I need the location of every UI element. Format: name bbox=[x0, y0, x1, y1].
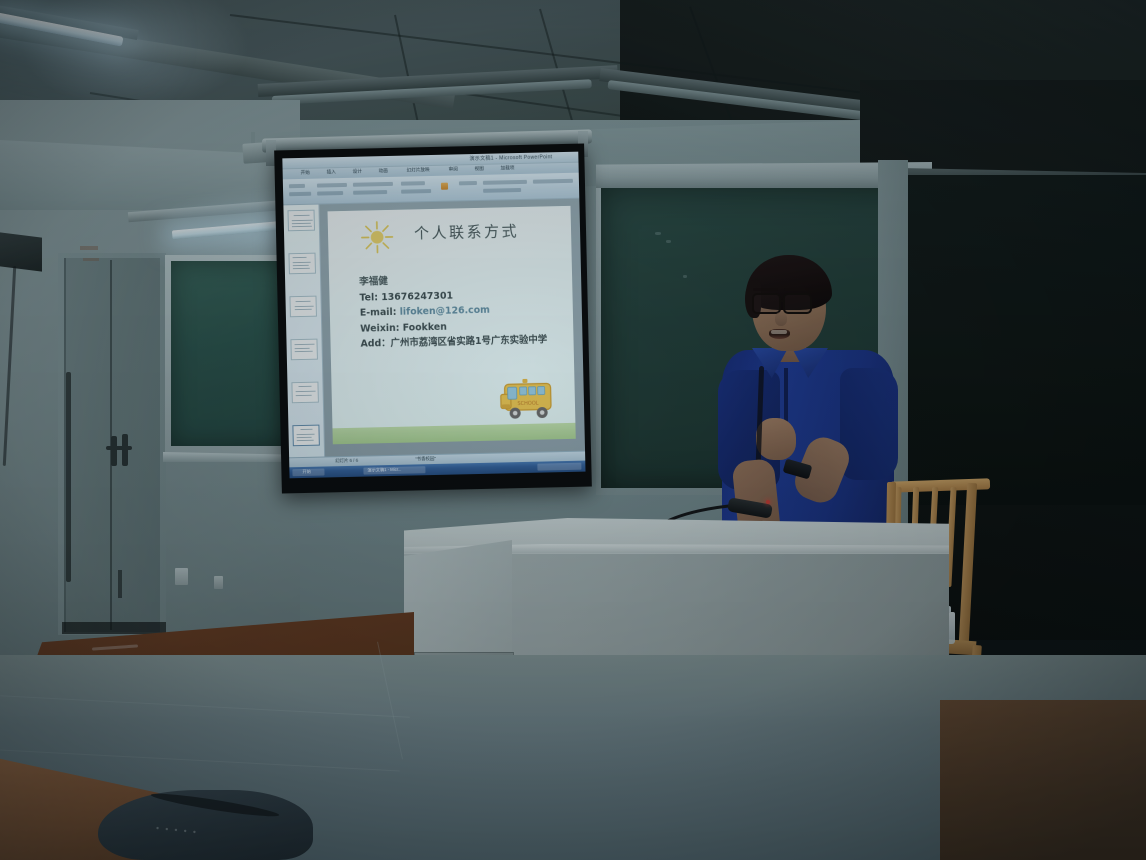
slide-thumbnail[interactable] bbox=[288, 210, 315, 232]
microphone-led-icon bbox=[766, 500, 770, 504]
ribbon-control[interactable] bbox=[317, 183, 347, 188]
ribbon-control[interactable] bbox=[401, 181, 425, 186]
glasses-lens-left bbox=[752, 293, 781, 314]
slide-thumbnail[interactable] bbox=[290, 339, 317, 361]
presenter-teeth bbox=[771, 330, 787, 334]
wall-outlet-1 bbox=[175, 568, 188, 585]
ribbon-control[interactable] bbox=[401, 189, 431, 194]
ribbon-highlight-button[interactable] bbox=[441, 183, 448, 190]
ribbon-control[interactable] bbox=[317, 191, 343, 196]
weixin-value: Fookken bbox=[403, 321, 447, 333]
presenter-right-sleeve bbox=[840, 368, 898, 480]
ribbon-tab-view[interactable]: 视图 bbox=[475, 166, 484, 172]
ribbon-control[interactable] bbox=[289, 184, 305, 188]
wall-outlet-2 bbox=[214, 576, 223, 589]
glasses-bridge bbox=[781, 300, 785, 302]
slide-grass-strip bbox=[332, 423, 575, 445]
statusbar-theme-name: "书香校园" bbox=[415, 456, 436, 462]
start-button-label: 开始 bbox=[302, 469, 311, 475]
door-handle-left[interactable] bbox=[111, 436, 117, 466]
ribbon-control[interactable] bbox=[353, 182, 393, 187]
door-lock-bar[interactable] bbox=[118, 570, 122, 598]
weixin-label: Weixin: bbox=[360, 322, 403, 334]
address-value: 广州市荔湾区省实路1号广东实验中学 bbox=[390, 334, 547, 349]
powerpoint-title-text: 演示文稿1 - Microsoft PowerPoint bbox=[469, 153, 552, 162]
statusbar-slide-counter: 幻灯片 6 / 6 bbox=[335, 458, 358, 465]
ribbon-control[interactable] bbox=[459, 181, 477, 185]
taskbar-task-label: 演示文稿1 - Micr... bbox=[367, 467, 401, 474]
projection-screen-surface: 演示文稿1 - Microsoft PowerPoint 开始 插入 设计 动画… bbox=[274, 144, 592, 494]
tray-icons[interactable] bbox=[537, 463, 581, 471]
slide-line-address: Add：广州市荔湾区省实路1号广东实验中学 bbox=[360, 332, 570, 352]
wall-marking bbox=[83, 258, 99, 261]
slide-editing-stage: 个人联系方式 李福健 Tel: 13676247301 E-mail: lifo… bbox=[319, 199, 585, 457]
address-label: Add： bbox=[360, 338, 390, 350]
presenter-brow-left bbox=[753, 288, 778, 291]
slide-thumbnail-current[interactable] bbox=[292, 425, 319, 447]
wall-marking bbox=[80, 246, 98, 250]
ribbon-tab-slideshow[interactable]: 幻灯片放映 bbox=[407, 167, 430, 174]
ribbon-control[interactable] bbox=[483, 180, 527, 185]
email-value: lifoken@126.com bbox=[400, 305, 490, 318]
projection-screen: 演示文稿1 - Microsoft PowerPoint 开始 插入 设计 动画… bbox=[274, 144, 592, 494]
slide-thumbnail[interactable] bbox=[291, 382, 318, 404]
slide-title: 个人联系方式 bbox=[414, 220, 519, 243]
presenter-brow-right bbox=[784, 288, 809, 291]
sun-icon bbox=[360, 220, 395, 255]
powerpoint-window: 演示文稿1 - Microsoft PowerPoint 开始 插入 设计 动画… bbox=[282, 152, 585, 479]
presenter-nose bbox=[775, 312, 787, 326]
wall-speaker bbox=[0, 232, 42, 271]
floor-wood-right bbox=[940, 700, 1146, 860]
ribbon-tab-review[interactable]: 审阅 bbox=[449, 166, 458, 172]
current-slide: 个人联系方式 李福健 Tel: 13676247301 E-mail: lifo… bbox=[328, 206, 576, 444]
ribbon-tab-design[interactable]: 设计 bbox=[353, 169, 362, 175]
glasses-lens-right bbox=[783, 293, 812, 314]
door-edge-shadow bbox=[66, 372, 71, 582]
chalk-smudge bbox=[666, 240, 671, 243]
ribbon-control[interactable] bbox=[533, 179, 573, 184]
slide-body: 李福健 Tel: 13676247301 E-mail: lifoken@126… bbox=[359, 270, 571, 352]
slide-thumbnail[interactable] bbox=[288, 253, 315, 275]
door-handle-right[interactable] bbox=[122, 434, 128, 466]
ribbon-control[interactable] bbox=[483, 188, 521, 193]
tel-value: 13676247301 bbox=[381, 290, 453, 303]
svg-text:SCHOOL: SCHOOL bbox=[517, 401, 538, 407]
email-label: E-mail: bbox=[360, 307, 400, 319]
ribbon-tab-addins[interactable]: 加载项 bbox=[501, 165, 515, 171]
ribbon-control[interactable] bbox=[289, 192, 311, 196]
tel-label: Tel: bbox=[359, 292, 381, 303]
ribbon-control[interactable] bbox=[353, 190, 387, 195]
ribbon-tab-home[interactable]: 开始 bbox=[301, 170, 310, 176]
school-bus-icon: SCHOOL bbox=[496, 373, 561, 424]
classroom-photo: 演示文稿1 - Microsoft PowerPoint 开始 插入 设计 动画… bbox=[0, 0, 1146, 860]
slide-thumbnail[interactable] bbox=[289, 296, 316, 318]
chalk-smudge bbox=[655, 232, 661, 235]
slide-thumbnail-pane[interactable] bbox=[283, 205, 325, 468]
chalk-smudge bbox=[683, 275, 687, 278]
door-threshold-shadow bbox=[62, 622, 166, 634]
ribbon-tab-insert[interactable]: 插入 bbox=[327, 169, 336, 175]
ribbon-tab-animations[interactable]: 动画 bbox=[379, 168, 388, 174]
door-handle-bar bbox=[106, 446, 132, 450]
